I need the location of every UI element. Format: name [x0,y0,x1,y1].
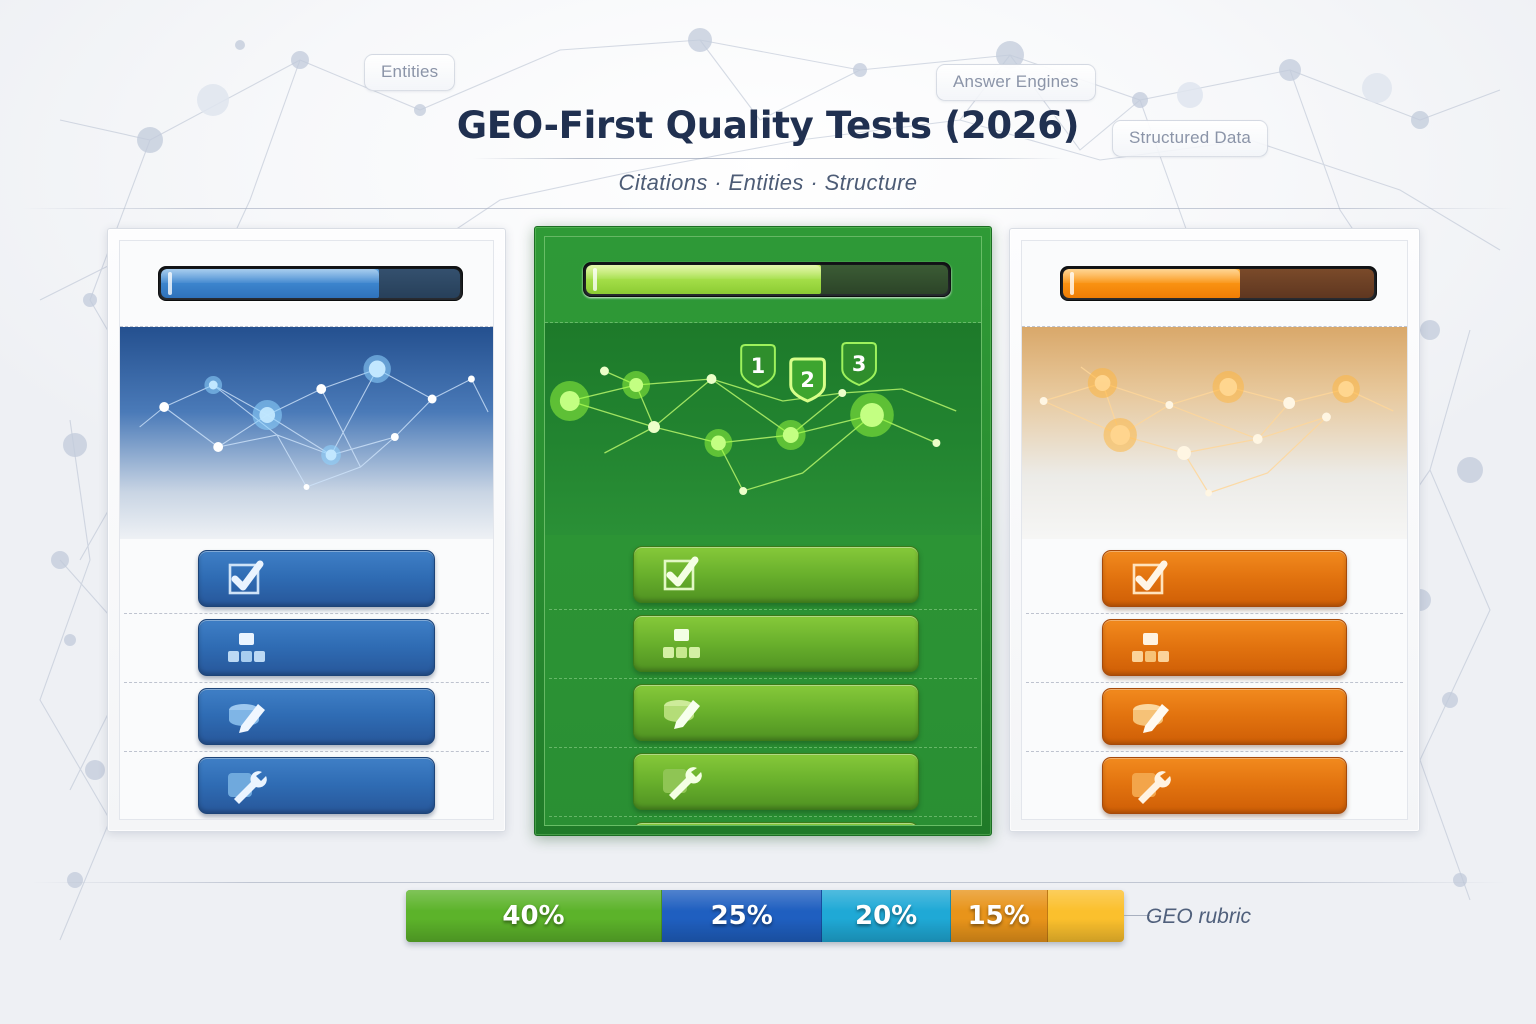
rubric-weight-bar[interactable]: 40%25%20%15% [406,890,1124,942]
wrench-config-icon [660,761,702,803]
legend: 40%25%20%15% GEO rubric [0,878,1536,948]
button-sitemap[interactable] [633,615,919,672]
button-list-right [1022,539,1407,820]
panel-right[interactable] [1009,228,1420,832]
tag-entities[interactable]: Entities [364,54,455,91]
progress-bar-left[interactable] [158,266,463,301]
progress-zone-center [545,237,981,323]
sitemap-icon [1129,627,1171,669]
list-item [545,819,981,826]
list-item [120,616,493,685]
list-item [120,685,493,754]
legend-segment[interactable]: 25% [662,890,822,942]
checkbox-check-icon [1129,558,1171,600]
button-list-center [545,535,981,826]
legend-divider [30,882,1506,883]
legend-label: GEO rubric [1146,905,1251,929]
network-art-right [1022,327,1407,539]
progress-zone-right [1022,241,1407,327]
button-checkbox-check[interactable] [633,546,919,603]
checkbox-check-icon [660,554,702,596]
legend-segment[interactable] [1048,890,1125,942]
button-database-edit[interactable] [1102,688,1347,745]
header: Entities Answer Engines Structured Data … [0,0,1536,212]
panel-center[interactable]: 1 2 3 [534,226,992,836]
infographic-canvas: Entities Answer Engines Structured Data … [0,0,1536,1024]
button-sitemap[interactable] [198,619,435,676]
checkbox-check-icon [225,558,267,600]
svg-text:3: 3 [852,352,866,376]
legend-segment[interactable]: 15% [951,890,1048,942]
database-edit-icon [660,692,702,734]
button-checkbox-check[interactable] [1102,550,1347,607]
button-database-edit[interactable] [633,684,919,741]
network-art-center: 1 2 3 [545,323,981,535]
page-subtitle: Citations · Entities · Structure [0,170,1536,196]
progress-bar-center[interactable] [583,262,951,297]
legend-segment[interactable]: 20% [822,890,951,942]
tag-answer-engines[interactable]: Answer Engines [936,64,1096,101]
list-item [1022,754,1407,820]
button-wrench-config[interactable] [633,753,919,810]
list-item [1022,685,1407,754]
button-tools-crossed[interactable] [633,822,919,826]
button-list-left [120,539,493,820]
wrench-config-icon [225,765,267,807]
sitemap-icon [225,627,267,669]
page-title: GEO-First Quality Tests (2026) [0,104,1536,147]
database-edit-icon [1129,696,1171,738]
list-item [545,750,981,819]
list-item [545,612,981,681]
database-edit-icon [225,696,267,738]
progress-zone-left [120,241,493,327]
title-block: GEO-First Quality Tests (2026) Citations… [0,104,1536,196]
legend-segment-value: 25% [711,901,773,931]
button-sitemap[interactable] [1102,619,1347,676]
progress-bar-right[interactable] [1060,266,1377,301]
legend-segment-value: 20% [855,901,917,931]
list-item [120,754,493,820]
svg-text:2: 2 [800,368,814,392]
button-wrench-config[interactable] [1102,757,1347,814]
panel-left[interactable] [107,228,506,832]
list-item [545,543,981,612]
button-checkbox-check[interactable] [198,550,435,607]
header-separator [22,208,1514,209]
sitemap-icon [660,623,702,665]
list-item [1022,616,1407,685]
legend-segment-value: 15% [968,901,1030,931]
panel-row: 1 2 3 [0,228,1536,842]
title-divider [473,158,1063,159]
svg-text:1: 1 [751,354,765,378]
button-wrench-config[interactable] [198,757,435,814]
list-item [120,547,493,616]
list-item [545,681,981,750]
button-database-edit[interactable] [198,688,435,745]
legend-segment-value: 40% [502,901,564,931]
legend-segment[interactable]: 40% [406,890,662,942]
wrench-config-icon [1129,765,1171,807]
network-art-left [120,327,493,539]
list-item [1022,547,1407,616]
